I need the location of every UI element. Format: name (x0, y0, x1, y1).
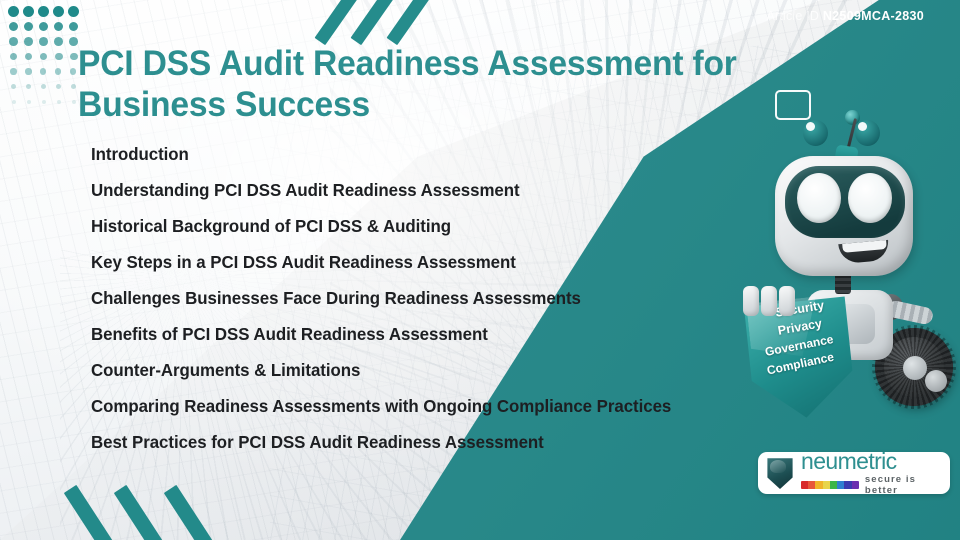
toc-item[interactable]: Best Practices for PCI DSS Audit Readine… (91, 424, 683, 460)
dot-grid-dot (9, 37, 18, 46)
dot-grid-dot (10, 68, 16, 74)
toc-item[interactable]: Historical Background of PCI DSS & Audit… (91, 208, 683, 244)
logo-bar-segment (801, 481, 808, 489)
dot-grid-row (6, 94, 81, 109)
dot-grid-dot (56, 84, 61, 89)
dot-grid-dot (26, 84, 31, 89)
dot-grid-dot (25, 53, 33, 61)
logo-subrow: secure is better (801, 474, 942, 496)
logo-shield-icon (766, 457, 794, 489)
toc-item[interactable]: Comparing Readiness Assessments with Ong… (91, 388, 673, 424)
dot-grid-dot (53, 6, 64, 17)
dot-grid-row (6, 49, 81, 64)
robot-mascot: SecurityPrivacyGovernanceCompliance (735, 108, 960, 408)
logo-rainbow-bar (801, 481, 859, 489)
dot-grid-dot (24, 22, 34, 32)
slide-root: Article ID N2509MCA-2830 PCI DSS Audit R… (0, 0, 960, 540)
dot-grid-row (6, 79, 81, 94)
dot-grid-dot (39, 37, 48, 46)
dot-grid-dot (12, 100, 16, 104)
logo-bar-segment (823, 481, 830, 489)
dot-grid-dot (42, 100, 46, 104)
diagonal-stripes-bottom (80, 492, 340, 540)
dot-grid-dot (70, 68, 76, 74)
robot-arm-right (886, 299, 935, 325)
logo-wordmark: neumetric (801, 450, 942, 472)
robot-fingers (743, 286, 803, 318)
wheel-hub-primary (903, 356, 927, 380)
dot-grid-dot (55, 53, 63, 61)
neumetric-logo[interactable]: neumetric secure is better (758, 452, 950, 494)
logo-bar-segment (852, 481, 859, 489)
dot-grid-dot (70, 53, 78, 61)
dot-grid-dot (68, 6, 79, 17)
toc-item[interactable]: Key Steps in a PCI DSS Audit Readiness A… (91, 244, 683, 280)
logo-text-group: neumetric secure is better (801, 450, 942, 496)
dot-grid-dot (38, 6, 49, 17)
dot-grid-dot (39, 22, 49, 32)
dot-grid-dot (57, 100, 61, 104)
diagonal-stripes-top (326, 0, 466, 40)
article-id-label: Article ID (766, 9, 819, 23)
dot-grid-dot (41, 84, 46, 89)
dot-grid-dot (40, 53, 48, 61)
logo-tagline: secure is better (865, 474, 942, 496)
table-of-contents: IntroductionUnderstanding PCI DSS Audit … (91, 136, 701, 460)
logo-bar-segment (808, 481, 815, 489)
toc-item[interactable]: Challenges Businesses Face During Readin… (91, 280, 673, 316)
dot-grid-dot (27, 100, 31, 104)
dot-grid-dot (54, 22, 64, 32)
wheel-hub-secondary (925, 370, 947, 392)
article-id-value: N2509MCA-2830 (823, 9, 924, 23)
dot-grid-dot (69, 22, 79, 32)
dot-grid-dot (40, 68, 46, 74)
page-title-line-2: Business Success (78, 85, 779, 126)
dot-grid-row (6, 64, 81, 79)
dot-grid-dot (10, 53, 18, 61)
dot-grid-dot (24, 37, 33, 46)
dot-grid-dot (71, 84, 76, 89)
toc-item[interactable]: Benefits of PCI DSS Audit Readiness Asse… (91, 316, 683, 352)
dot-grid-dot (69, 37, 78, 46)
dot-grid-dot (23, 6, 34, 17)
page-title-line-1: PCI DSS Audit Readiness Assessment for (78, 44, 779, 85)
logo-bar-segment (815, 481, 822, 489)
dot-grid-decoration (6, 4, 81, 109)
dot-grid-dot (25, 68, 31, 74)
dot-grid-row (6, 19, 81, 34)
dot-grid-row (6, 4, 81, 19)
dot-grid-dot (54, 37, 63, 46)
dot-grid-row (6, 34, 81, 49)
robot-eye-glint-left (806, 122, 815, 131)
toc-item[interactable]: Introduction (91, 136, 683, 172)
dot-grid-dot (8, 6, 19, 17)
robot-eye-left (797, 173, 841, 223)
logo-bar-segment (844, 481, 851, 489)
article-id: Article ID N2509MCA-2830 (766, 9, 924, 23)
toc-item[interactable]: Understanding PCI DSS Audit Readiness As… (91, 172, 683, 208)
dot-grid-dot (55, 68, 61, 74)
logo-bar-segment (830, 481, 837, 489)
robot-eye-glint-right (858, 122, 867, 131)
page-title: PCI DSS Audit Readiness Assessment for B… (78, 44, 779, 126)
dot-grid-dot (72, 100, 76, 104)
logo-bar-segment (837, 481, 844, 489)
dot-grid-dot (11, 84, 16, 89)
dot-grid-dot (9, 22, 19, 32)
robot-eye-right (848, 173, 892, 223)
toc-item[interactable]: Counter-Arguments & Limitations (91, 352, 683, 388)
